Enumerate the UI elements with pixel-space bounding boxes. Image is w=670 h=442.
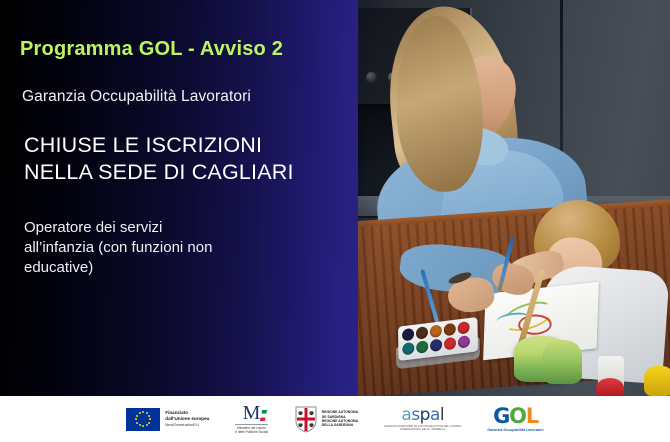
photo-paint-pot-yellow	[644, 366, 670, 396]
photo-paint-pot-green-2	[542, 340, 582, 384]
logo-bar: Finanziato dall’Unione europea NextGener…	[0, 396, 670, 442]
photo-palette-pan	[458, 335, 470, 349]
gol-logo: GOL Garanzia Occupabilità Lavoratori	[487, 406, 543, 432]
gol-letter-l: L	[526, 404, 538, 428]
headline: CHIUSE LE ISCRIZIONI NELLA SEDE DI CAGLI…	[24, 132, 294, 186]
regione-sardegna-text: REGIONE AUTONOMA DE SARDIGNA REGIONE AUT…	[322, 410, 358, 428]
ministero-lavoro-logo: M Ministero del Lavoro e delle Politiche…	[235, 404, 268, 434]
photo-palette-pan	[416, 326, 428, 340]
aspal-logo: aspal AGENZIA SARDA PER LE POLITICHE ATT…	[384, 407, 461, 432]
regione-sardegna-logo: REGIONE AUTONOMA DE SARDIGNA REGIONE AUT…	[294, 405, 358, 433]
gol-letter-g: G	[493, 404, 509, 428]
ministero-m-mark: M	[243, 404, 261, 423]
aspal-letter-s: s	[411, 405, 419, 425]
ras-line-4: DELLA SARDEGNA	[322, 423, 358, 427]
aspal-caption-line-2: ASSESSORADU DE SU TRABALLU	[384, 428, 461, 431]
photo-palette-pans	[402, 321, 474, 358]
gol-letter-o: O	[509, 404, 526, 428]
eu-flag-icon	[126, 408, 160, 431]
eu-line-2: dall’Unione europea	[165, 416, 209, 422]
program-title: Programma GOL - Avviso 2	[20, 38, 283, 61]
photo-palette-pan	[458, 321, 470, 335]
photo-woman-and-child-painting	[356, 0, 670, 396]
eu-line-3: NextGenerationEU	[165, 422, 209, 428]
eu-stars	[126, 408, 160, 431]
photo-palette-pan	[402, 342, 414, 356]
eu-funding-text: Finanziato dall’Unione europea NextGener…	[165, 410, 209, 427]
course-line-2: all’infanzia (con funzioni non	[24, 238, 304, 258]
course-description: Operatore dei servizi all’infanzia (con …	[24, 218, 304, 278]
program-subtitle: Garanzia Occupabilità Lavoratori	[22, 88, 251, 106]
aspal-letter-a2: a	[430, 405, 440, 425]
aspal-letter-p: p	[420, 405, 430, 425]
gol-wordmark: GOL	[493, 406, 538, 427]
headline-line-1: CHIUSE LE ISCRIZIONI	[24, 132, 294, 159]
aspal-letter-l: l	[440, 405, 444, 425]
gol-caption: Garanzia Occupabilità Lavoratori	[487, 428, 543, 432]
photo-palette-pan	[430, 339, 442, 353]
photo-paint-pot-red	[596, 378, 624, 396]
ministero-caption-line-2: e delle Politiche Sociali	[235, 430, 268, 434]
photo-palette-pan	[444, 323, 456, 337]
ministero-caption: Ministero del Lavoro e delle Politiche S…	[235, 424, 268, 434]
eu-funding-logo: Finanziato dall’Unione europea NextGener…	[126, 408, 209, 431]
course-line-1: Operatore dei servizi	[24, 218, 304, 238]
course-line-3: educative)	[24, 258, 304, 278]
photo-palette-pan	[402, 328, 414, 342]
aspal-wordmark: aspal	[401, 407, 444, 424]
aspal-caption: AGENZIA SARDA PER LE POLITICHE ATTIVE DE…	[384, 425, 461, 432]
aspal-letter-a: a	[401, 405, 411, 425]
ras-line-1: REGIONE AUTONOMA	[322, 410, 358, 414]
four-moors-shield-icon	[294, 405, 318, 433]
poster-canvas: Programma GOL - Avviso 2 Garanzia Occupa…	[0, 0, 670, 442]
text-panel: Programma GOL - Avviso 2 Garanzia Occupa…	[0, 0, 358, 396]
photo-palette-pan	[444, 337, 456, 351]
photo-palette-pan	[416, 340, 428, 354]
headline-line-2: NELLA SEDE DI CAGLIARI	[24, 159, 294, 186]
photo-palette-pan	[430, 324, 442, 338]
